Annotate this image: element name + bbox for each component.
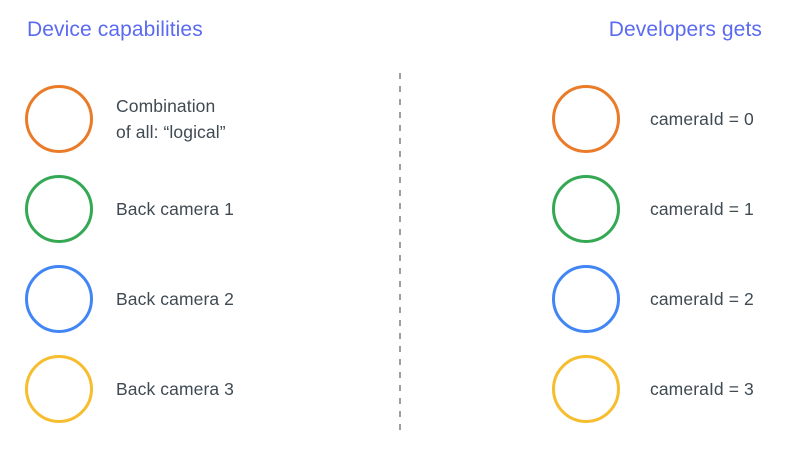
cameraid-row-2: cameraId = 2: [552, 265, 754, 333]
left-column-heading: Device capabilities: [27, 18, 203, 42]
cameraid-label-3: cameraId = 3: [650, 376, 754, 402]
developers-gets-column: Developers gets cameraId = 0 cameraId = …: [400, 0, 800, 467]
capability-row-2: Back camera 2: [25, 265, 234, 333]
capability-label-0: Combination of all: “logical”: [116, 93, 226, 145]
capability-row-1: Back camera 1: [25, 175, 234, 243]
capability-label-1: Back camera 1: [116, 196, 234, 222]
cameraid-circle-yellow: [552, 355, 620, 423]
device-capabilities-column: Device capabilities Combination of all: …: [0, 0, 400, 467]
cameraid-row-1: cameraId = 1: [552, 175, 754, 243]
cameraid-label-1: cameraId = 1: [650, 196, 754, 222]
cameraid-circle-blue: [552, 265, 620, 333]
camera-circle-yellow: [25, 355, 93, 423]
cameraid-circle-orange: [552, 85, 620, 153]
capability-row-3: Back camera 3: [25, 355, 234, 423]
camera-circle-green: [25, 175, 93, 243]
camera-circle-blue: [25, 265, 93, 333]
cameraid-label-2: cameraId = 2: [650, 286, 754, 312]
cameraid-label-0: cameraId = 0: [650, 106, 754, 132]
right-column-heading: Developers gets: [609, 18, 762, 42]
capability-label-2: Back camera 2: [116, 286, 234, 312]
camera-circle-orange: [25, 85, 93, 153]
capability-label-3: Back camera 3: [116, 376, 234, 402]
cameraid-row-0: cameraId = 0: [552, 85, 754, 153]
cameraid-circle-green: [552, 175, 620, 243]
cameraid-row-3: cameraId = 3: [552, 355, 754, 423]
camera-id-mapping-diagram: Device capabilities Combination of all: …: [0, 0, 800, 467]
capability-row-0: Combination of all: “logical”: [25, 85, 226, 153]
